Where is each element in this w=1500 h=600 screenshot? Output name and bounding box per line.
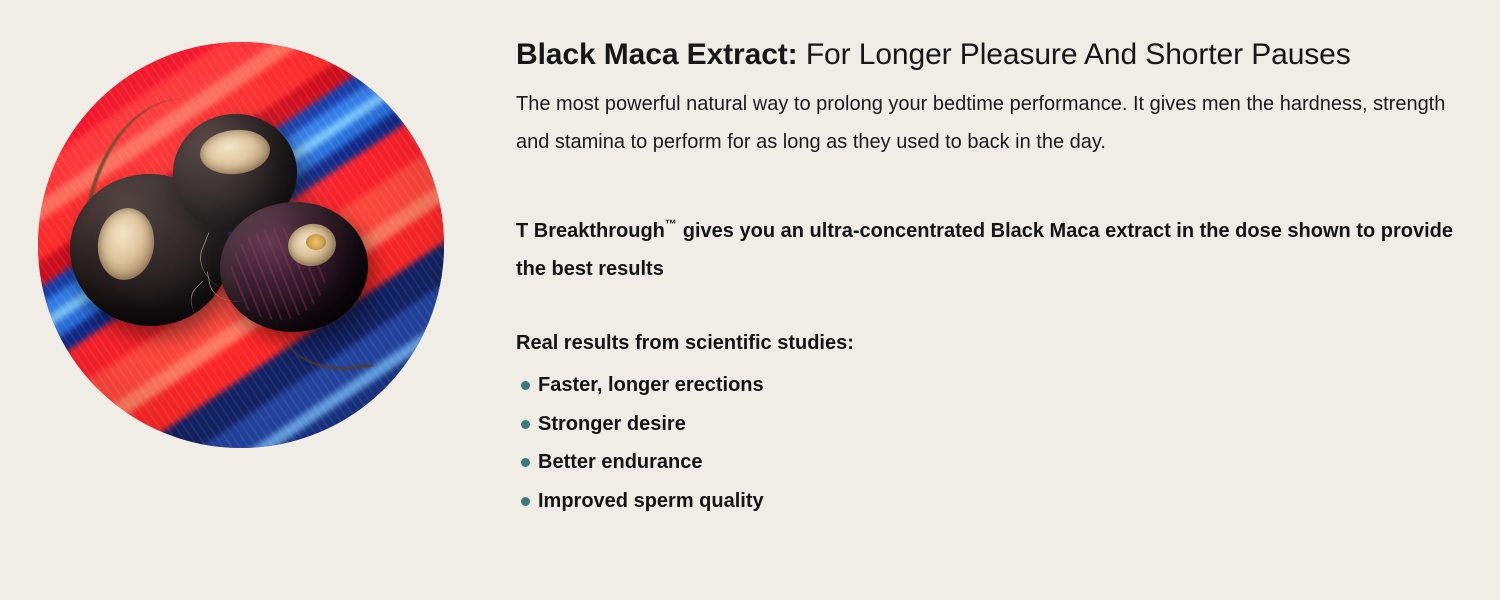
bullet-dot-icon [521,381,530,390]
bullet-dot-icon [521,420,530,429]
bullet-dot-icon [521,497,530,506]
black-maca-roots-photo [38,42,444,448]
ingredient-info-panel: Black Maca Extract: For Longer Pleasure … [0,0,1500,600]
brand-name: T Breakthrough [516,220,665,242]
ingredient-headline: Black Maca Extract: For Longer Pleasure … [516,33,1482,76]
ingredient-text-column: Black Maca Extract: For Longer Pleasure … [516,33,1482,520]
list-item: Better endurance [516,443,1482,482]
list-item-label: Better endurance [538,451,703,473]
product-image-container [38,42,444,448]
list-item-label: Stronger desire [538,413,686,435]
list-item: Improved sperm quality [516,482,1482,521]
headline-rest: For Longer Pleasure And Shorter Pauses [798,38,1351,71]
photo-vignette [38,42,444,448]
list-item-label: Improved sperm quality [538,490,764,512]
list-item: Faster, longer erections [516,366,1482,405]
ingredient-intro-paragraph: The most powerful natural way to prolong… [516,85,1482,161]
headline-lead: Black Maca Extract: [516,38,798,71]
trademark-icon: ™ [665,217,677,231]
results-heading: Real results from scientific studies: [516,328,1482,358]
results-bullet-list: Faster, longer erections Stronger desire… [516,366,1482,520]
dosage-claim-paragraph: T Breakthrough™ gives you an ultra-conce… [516,205,1482,288]
list-item: Stronger desire [516,405,1482,444]
bullet-dot-icon [521,458,530,467]
list-item-label: Faster, longer erections [538,374,764,396]
